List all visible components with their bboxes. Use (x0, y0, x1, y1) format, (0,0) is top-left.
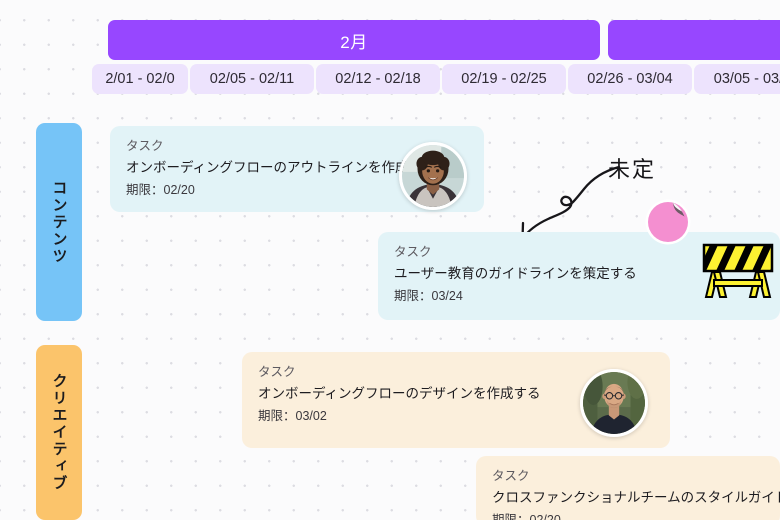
lane-label-creative[interactable]: クリエイティブ (36, 345, 82, 520)
pink-circle-sticker[interactable] (644, 198, 692, 246)
month-bar-february-label: 2月 (340, 28, 367, 53)
week-chip-1[interactable]: 2/01 - 02/0 (92, 64, 188, 94)
week-chip-4-label: 02/19 - 02/25 (461, 71, 546, 87)
task-kind-label: タスク (492, 470, 764, 483)
lane-label-contents-text: コンテンツ (49, 180, 70, 265)
avatar[interactable] (399, 142, 467, 210)
construction-barrier-sticker[interactable] (700, 242, 776, 302)
month-header-row: 2月 (0, 20, 780, 60)
avatar[interactable] (580, 369, 648, 437)
week-chip-6-label: 03/05 - 03/11 (714, 71, 780, 87)
week-chip-3-label: 02/12 - 02/18 (335, 71, 420, 87)
task-title: クロスファンクショナルチームのスタイルガイドを策定する (492, 490, 764, 506)
timeline-board: 2月 2/01 - 02/0 02/05 - 02/11 02/12 - 02/… (0, 0, 780, 520)
week-chip-4[interactable]: 02/19 - 02/25 (442, 64, 566, 94)
week-chip-2-label: 02/05 - 02/11 (210, 71, 294, 87)
week-chip-3[interactable]: 02/12 - 02/18 (316, 64, 440, 94)
lane-label-contents[interactable]: コンテンツ (36, 123, 82, 321)
week-chip-1-label: 2/01 - 02/0 (105, 71, 174, 87)
month-bar-march[interactable] (608, 20, 780, 60)
month-bar-february[interactable]: 2月 (108, 20, 600, 60)
week-chip-5-label: 02/26 - 03/04 (587, 71, 672, 87)
task-due-date: 期限：02/20 (492, 514, 764, 520)
week-chip-2[interactable]: 02/05 - 02/11 (190, 64, 314, 94)
week-header-row: 2/01 - 02/0 02/05 - 02/11 02/12 - 02/18 … (0, 64, 780, 94)
task-card[interactable]: タスク クロスファンクショナルチームのスタイルガイドを策定する 期限：02/20 (476, 456, 780, 520)
week-chip-6[interactable]: 03/05 - 03/11 (694, 64, 780, 94)
lane-label-creative-text: クリエイティブ (49, 373, 70, 492)
week-chip-5[interactable]: 02/26 - 03/04 (568, 64, 692, 94)
